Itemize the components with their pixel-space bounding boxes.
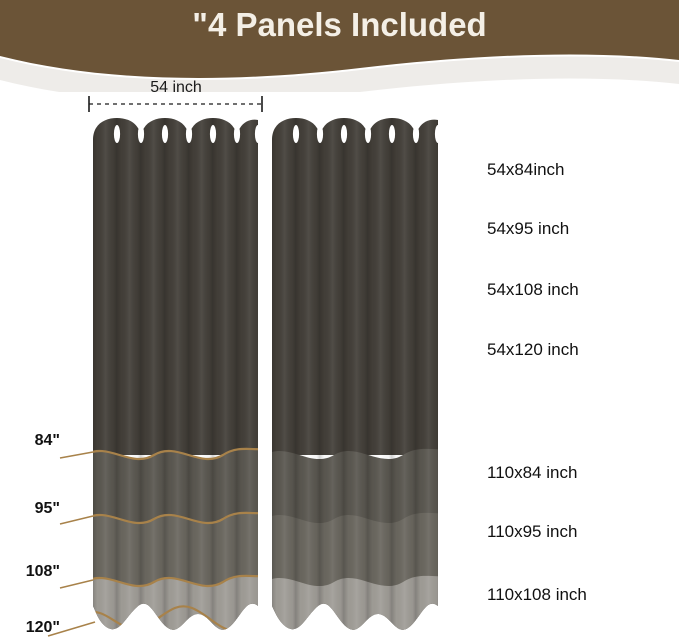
size-option-54x120: 54x120 inch xyxy=(487,340,579,360)
band-95-right xyxy=(265,448,450,643)
page-title: "4 Panels Included xyxy=(0,6,679,44)
leader-108 xyxy=(60,580,93,588)
width-dimension-label: 54 inch xyxy=(89,79,263,97)
band-108 xyxy=(85,512,270,643)
height-marker-108: 108" xyxy=(0,563,60,581)
width-dimension-line xyxy=(89,96,262,112)
pleats-right xyxy=(272,110,440,643)
band-84-right xyxy=(265,110,450,455)
size-option-110x84: 110x84 inch xyxy=(487,463,577,483)
wave-line-120 xyxy=(85,606,272,630)
height-leader-lines xyxy=(48,452,95,636)
size-option-54x108: 54x108 inch xyxy=(487,280,579,300)
pleats-left xyxy=(93,110,261,643)
band-120 xyxy=(85,575,270,643)
band-108-right xyxy=(265,512,450,643)
size-option-54x84: 54x84inch xyxy=(487,160,565,180)
size-option-54x95: 54x95 inch xyxy=(487,219,569,239)
wave-line-95 xyxy=(85,512,270,523)
band-95 xyxy=(85,448,270,643)
size-option-110x108: 110x108 inch xyxy=(487,585,587,605)
curtain-panel-left xyxy=(85,110,272,643)
height-marker-95: 95" xyxy=(10,500,60,518)
band-84 xyxy=(85,110,270,455)
curtain-panel-right xyxy=(265,110,450,643)
height-marker-84: 84" xyxy=(10,432,60,450)
height-marker-120: 120" xyxy=(0,619,60,637)
grommets-left xyxy=(114,125,261,143)
wave-line-108 xyxy=(85,575,270,586)
leader-84 xyxy=(60,452,93,458)
band-120-right xyxy=(265,575,450,643)
wave-line-84 xyxy=(85,448,270,459)
leader-95 xyxy=(60,516,93,524)
product-infographic: "4 Panels Included 54 inch xyxy=(0,0,679,643)
grommets-right xyxy=(293,125,441,143)
size-option-110x95: 110x95 inch xyxy=(487,522,577,542)
